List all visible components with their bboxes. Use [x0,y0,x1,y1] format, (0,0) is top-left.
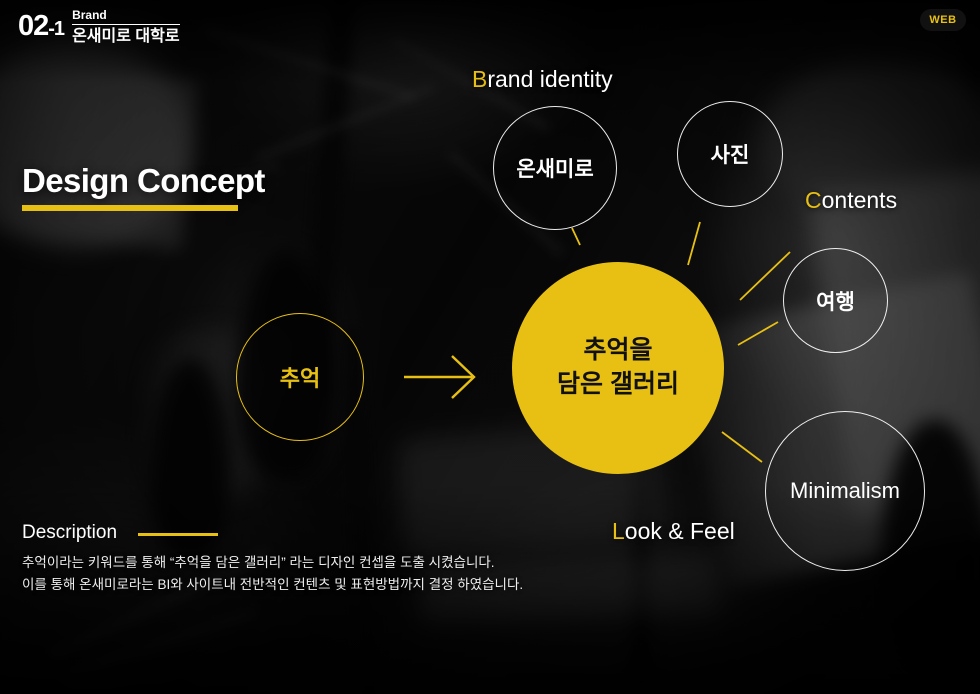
node-circle-onsaemiro[interactable]: 온새미로 [493,106,617,230]
node-circle-minimalism[interactable]: Minimalism [765,411,925,571]
look-and-feel-rest: ook & Feel [625,518,735,544]
node-label-sajin: 사진 [711,139,750,169]
arrow-right-icon [404,356,474,398]
center-circle-text: 추억을 담은 갤러리 [557,334,679,402]
description-rule [138,533,218,536]
slide-canvas: 02-1 Brand 온새미로 대학로 WEB Design Concept 추… [0,0,980,694]
node-label-chueok: 추억 [280,361,320,393]
description-line-2: 이를 통해 온새미로라는 BI와 사이트내 전반적인 컨텐츠 및 표현방법까지 … [22,573,523,593]
node-label-minimalism: Minimalism [790,478,900,504]
section-label-look-and-feel: Look & Feel [612,518,735,545]
center-line-2: 담은 갤러리 [557,370,679,398]
contents-rest: ontents [822,187,897,213]
node-circle-chueok[interactable]: 추억 [236,313,364,441]
section-label-brand-identity: Brand identity [472,66,613,93]
description-heading: Description [22,522,117,544]
section-label-contents: Contents [805,187,897,214]
node-circle-yeohaeng[interactable]: 여행 [783,248,888,353]
contents-initial: C [805,187,822,213]
node-label-onsaemiro: 온새미로 [516,153,593,183]
node-circle-center[interactable]: 추억을 담은 갤러리 [512,262,724,474]
description-line-1: 추억이라는 키워드를 통해 “추억을 담은 갤러리” 라는 디자인 컨셉을 도출… [22,551,495,571]
look-and-feel-initial: L [612,518,625,544]
node-circle-sajin[interactable]: 사진 [677,101,783,207]
center-line-1: 추억을 [583,336,652,364]
brand-identity-initial: B [472,66,487,92]
brand-identity-rest: rand identity [487,66,612,92]
node-label-yeohaeng: 여행 [816,286,855,316]
